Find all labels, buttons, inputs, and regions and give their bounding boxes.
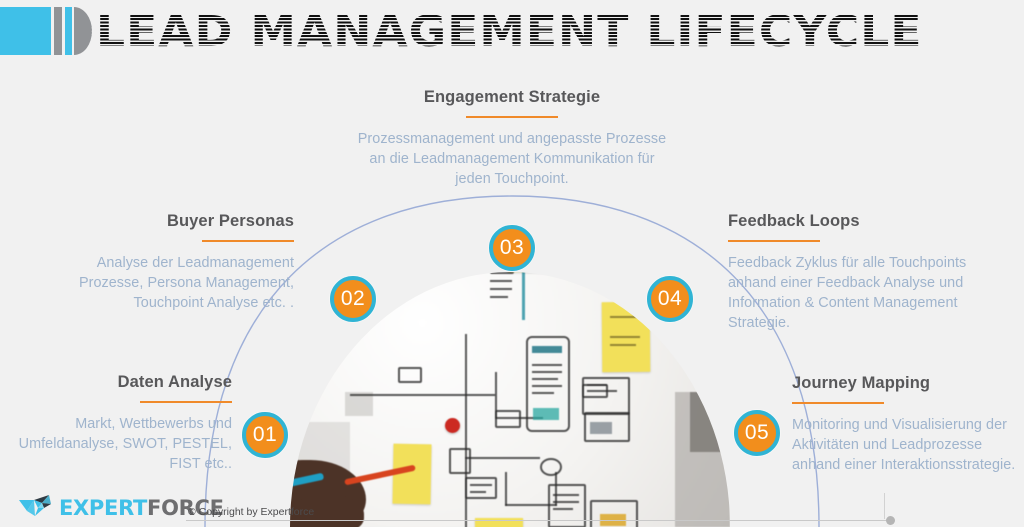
footer-divider <box>186 520 890 521</box>
title-underline <box>466 116 558 118</box>
block-title: Feedback Loops <box>728 212 1018 231</box>
block-body: Feedback Zyklus für alle Touchpoints anh… <box>728 253 1018 333</box>
step-circle-01[interactable]: 01 <box>242 412 288 458</box>
step-circle-03[interactable]: 03 <box>489 225 535 271</box>
slide-footer: EXPERTFORCE © Copyright by Expertforce <box>0 487 1024 527</box>
step-circle-02[interactable]: 02 <box>330 276 376 322</box>
content-block-feedback-loops: Feedback Loops Feedback Zyklus für alle … <box>728 212 1018 333</box>
content-block-buyer-personas: Buyer Personas Analyse der Leadmanagemen… <box>38 212 294 313</box>
content-block-engagement-strategie: Engagement Strategie Prozessmanagement u… <box>352 88 672 189</box>
title-underline <box>728 240 820 242</box>
step-number: 02 <box>341 287 365 311</box>
block-title: Daten Analyse <box>16 373 232 392</box>
step-number: 05 <box>745 421 769 445</box>
step-number: 01 <box>253 423 277 447</box>
footer-tick-mark <box>884 493 885 519</box>
content-block-journey-mapping: Journey Mapping Monitoring und Visualisi… <box>792 374 1024 475</box>
step-number: 03 <box>500 236 524 260</box>
step-number: 04 <box>658 287 682 311</box>
block-title: Buyer Personas <box>38 212 294 231</box>
title-underline <box>140 401 232 403</box>
block-body: Prozessmanagement und angepasste Prozess… <box>352 129 672 189</box>
block-title: Engagement Strategie <box>352 88 672 107</box>
step-circle-05[interactable]: 05 <box>734 410 780 456</box>
block-body: Monitoring und Visualisierung der Aktivi… <box>792 415 1024 475</box>
block-body: Analyse der Leadmanagement Prozesse, Per… <box>38 253 294 313</box>
title-underline <box>792 402 884 404</box>
block-title: Journey Mapping <box>792 374 1024 393</box>
slide-canvas: LEAD MANAGEMENT LIFECYCLE <box>0 0 1024 527</box>
title-underline <box>202 240 294 242</box>
block-body: Markt, Wettbewerbs und Umfeldanalyse, SW… <box>16 414 232 474</box>
step-circle-04[interactable]: 04 <box>647 276 693 322</box>
footer-end-dot <box>886 516 895 525</box>
copyright-text: © Copyright by Expertforce <box>188 506 314 518</box>
origami-bird-icon <box>18 494 58 522</box>
brand-name-primary: EXPERT <box>59 496 147 520</box>
content-block-daten-analyse: Daten Analyse Markt, Wettbewerbs und Umf… <box>16 373 232 474</box>
